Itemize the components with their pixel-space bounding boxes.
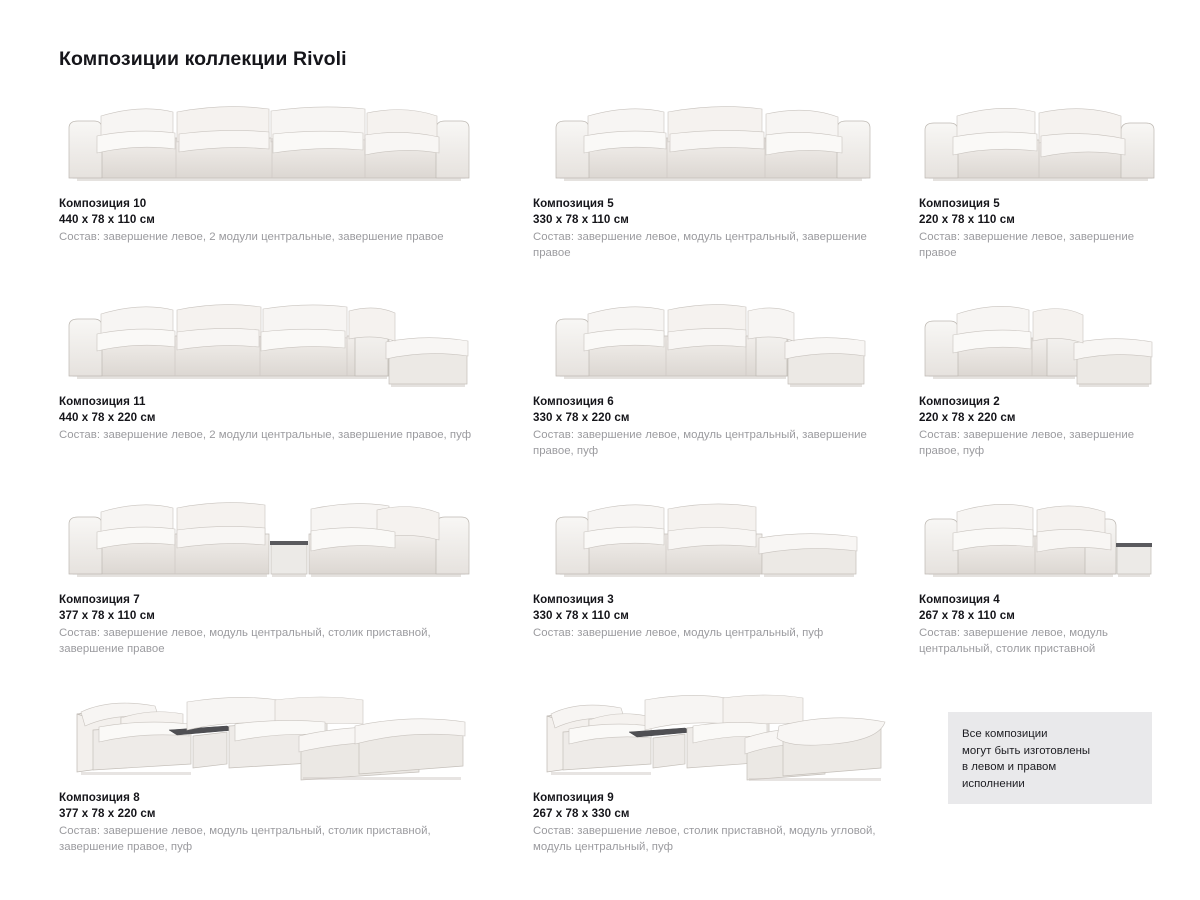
composition-description: Состав: завершение левое, модуль централ… (533, 428, 893, 459)
composition-size: 267 x 78 x 330 см (533, 806, 893, 822)
composition-name: Композиция 2 (919, 394, 1162, 410)
info-note-box: Все композиции могут быть изготовлены в … (948, 712, 1152, 804)
page-title: Композиции коллекции Rivoli (59, 48, 347, 71)
composition-name: Композиция 11 (59, 394, 479, 410)
composition-meta: Композиция 10 440 x 78 x 110 см Состав: … (59, 196, 479, 246)
composition-meta: Композиция 3 330 x 78 x 110 см Состав: з… (533, 592, 893, 642)
info-note-text: Все композиции могут быть изготовлены в … (962, 726, 1142, 792)
composition-size: 330 x 78 x 220 см (533, 410, 893, 426)
composition-description: Состав: завершение левое, модуль централ… (59, 626, 479, 657)
sofa-illustration-straight-3-table (59, 482, 479, 586)
sofa-illustration-straight-3 (533, 86, 893, 190)
composition-meta: Композиция 4 267 x 78 x 110 см Состав: з… (919, 592, 1162, 657)
composition-description: Состав: завершение левое, модуль централ… (533, 626, 893, 642)
composition-size: 220 x 78 x 110 см (919, 212, 1162, 228)
composition-meta: Композиция 2 220 x 78 x 220 см Состав: з… (919, 394, 1162, 459)
composition-row: Композиция 7 377 x 78 x 110 см Состав: з… (0, 482, 1200, 680)
composition-size: 220 x 78 x 220 см (919, 410, 1162, 426)
composition-meta: Композиция 6 330 x 78 x 220 см Состав: з… (533, 394, 893, 459)
composition-size: 377 x 78 x 220 см (59, 806, 479, 822)
composition-description: Состав: завершение левое, модуль централ… (59, 824, 479, 855)
side-table-top (270, 541, 308, 545)
composition-name: Композиция 3 (533, 592, 893, 608)
composition-description: Состав: завершение левое, завершение пра… (919, 230, 1162, 261)
sofa-illustration-straight-3-ottoman (533, 284, 893, 388)
sofa-illustration-straight-2-ottoman (919, 284, 1162, 388)
composition-description: Состав: завершение левое, 2 модули центр… (59, 230, 479, 246)
composition-meta: Композиция 7 377 x 78 x 110 см Состав: з… (59, 592, 479, 657)
composition-row: Композиция 10 440 x 78 x 110 см Состав: … (0, 86, 1200, 284)
composition-description: Состав: завершение левое, модуль централ… (919, 626, 1162, 657)
sofa-illustration-corner-perspective-deep (533, 680, 893, 784)
composition-size: 440 x 78 x 110 см (59, 212, 479, 228)
composition-card-comp-9[interactable]: Композиция 9 267 x 78 x 330 см Состав: з… (533, 680, 893, 855)
composition-name: Композиция 4 (919, 592, 1162, 608)
sofa-illustration-straight-4 (59, 86, 479, 190)
composition-card-comp-4[interactable]: Композиция 4 267 x 78 x 110 см Состав: з… (919, 482, 1162, 657)
sofa-illustration-straight-2-table (919, 482, 1162, 586)
composition-name: Композиция 8 (59, 790, 479, 806)
composition-name: Композиция 9 (533, 790, 893, 806)
composition-description: Состав: завершение левое, модуль централ… (533, 230, 893, 261)
composition-card-comp-6[interactable]: Композиция 6 330 x 78 x 220 см Состав: з… (533, 284, 893, 459)
composition-meta: Композиция 5 220 x 78 x 110 см Состав: з… (919, 196, 1162, 261)
composition-size: 330 x 78 x 110 см (533, 212, 893, 228)
composition-description: Состав: завершение левое, 2 модули центр… (59, 428, 479, 444)
composition-name: Композиция 5 (533, 196, 893, 212)
composition-meta: Композиция 9 267 x 78 x 330 см Состав: з… (533, 790, 893, 855)
composition-description: Состав: завершение левое, столик пристав… (533, 824, 893, 855)
composition-name: Композиция 7 (59, 592, 479, 608)
composition-card-comp-7[interactable]: Композиция 7 377 x 78 x 110 см Состав: з… (59, 482, 479, 657)
composition-card-comp-2[interactable]: Композиция 2 220 x 78 x 220 см Состав: з… (919, 284, 1162, 459)
composition-size: 330 x 78 x 110 см (533, 608, 893, 624)
composition-card-comp-5-220[interactable]: Композиция 5 220 x 78 x 110 см Состав: з… (919, 86, 1162, 261)
composition-meta: Композиция 11 440 x 78 x 220 см Состав: … (59, 394, 479, 444)
composition-card-comp-3[interactable]: Композиция 3 330 x 78 x 110 см Состав: з… (533, 482, 893, 642)
composition-name: Композиция 10 (59, 196, 479, 212)
composition-card-comp-11[interactable]: Композиция 11 440 x 78 x 220 см Состав: … (59, 284, 479, 444)
composition-name: Композиция 6 (533, 394, 893, 410)
composition-meta: Композиция 8 377 x 78 x 220 см Состав: з… (59, 790, 479, 855)
composition-name: Композиция 5 (919, 196, 1162, 212)
composition-size: 377 x 78 x 110 см (59, 608, 479, 624)
sofa-illustration-straight-2 (919, 86, 1162, 190)
sofa-illustration-straight-4-ottoman (59, 284, 479, 388)
composition-meta: Композиция 5 330 x 78 x 110 см Состав: з… (533, 196, 893, 261)
composition-size: 267 x 78 x 110 см (919, 608, 1162, 624)
composition-card-comp-5-330[interactable]: Композиция 5 330 x 78 x 110 см Состав: з… (533, 86, 893, 261)
composition-size: 440 x 78 x 220 см (59, 410, 479, 426)
page-root: Композиции коллекции Rivoli (0, 0, 1200, 900)
composition-description: Состав: завершение левое, завершение пра… (919, 428, 1162, 459)
composition-row: Композиция 11 440 x 78 x 220 см Состав: … (0, 284, 1200, 482)
composition-card-comp-10[interactable]: Композиция 10 440 x 78 x 110 см Состав: … (59, 86, 479, 246)
composition-card-comp-8[interactable]: Композиция 8 377 x 78 x 220 см Состав: з… (59, 680, 479, 855)
side-table-top (1116, 543, 1152, 547)
sofa-illustration-corner-perspective-table (59, 680, 479, 784)
sofa-illustration-straight-2-ottoman-right (533, 482, 893, 586)
